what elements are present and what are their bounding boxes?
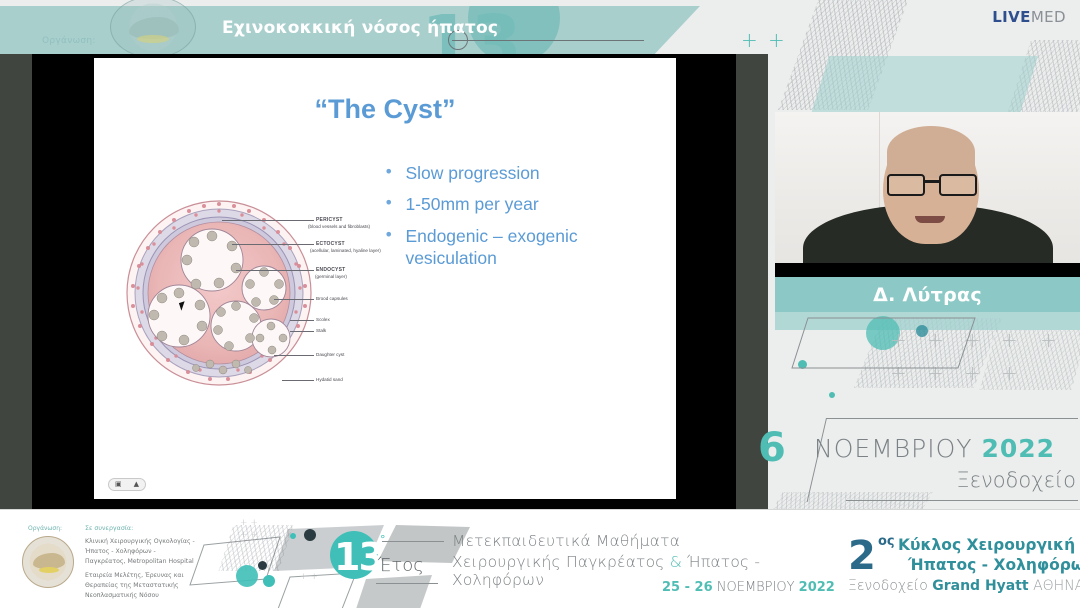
course-date-year: 2022 <box>799 580 835 595</box>
glasses-bridge <box>925 180 939 183</box>
pointer-up-icon[interactable]: ▲ <box>134 481 139 488</box>
bullet-text: Endogenic – exogenic vesiculation <box>405 225 654 270</box>
cycle-line-2: Ήπατος - Χοληφόρων <box>908 556 1080 574</box>
webcam-video[interactable] <box>775 112 1080 277</box>
cycle-venue-city: ΑΘΗΝΑ <box>1033 578 1080 594</box>
bullet-text: 1-50mm per year <box>405 193 538 215</box>
cycle-superscript: ος <box>878 534 895 549</box>
diagram-label-title: Brood capsules <box>316 296 348 303</box>
list-item: • Slow progression <box>384 162 654 184</box>
right-panel-year: 2022 <box>981 434 1055 463</box>
cycle-venue-line: Ξενοδοχείο Grand Hyatt ΑΘΗΝΑ <box>848 578 1080 594</box>
banner-society-logo-icon <box>22 536 74 588</box>
glasses-icon <box>887 174 977 196</box>
right-panel-month: ΝΟΕΜΒΡΙΟΥ <box>814 434 973 463</box>
course-date-days: 25 - 26 <box>662 580 713 595</box>
slide-bullet-list: • Slow progression • 1-50mm per year • E… <box>384 162 654 279</box>
banner-plus-3: + + <box>300 573 318 582</box>
leader-line <box>290 320 314 321</box>
date-frame-top-line <box>826 418 1078 419</box>
right-panel-date-block: ΝΟΕΜΒΡΙΟΥ 2022 Ξενοδοχείο <box>800 418 1080 504</box>
screen-root: + + + + + + + + + + + + + 13 Οργάνωση: Ε… <box>0 0 1080 608</box>
leader-line <box>274 355 314 356</box>
edition-number: 13 <box>334 535 383 579</box>
banner-course-date: 25 - 26 ΝΟΕΜΒΡΙΟΥ 2022 <box>662 580 835 595</box>
leader-line <box>222 220 314 221</box>
right-panel-day: 6 <box>758 425 786 471</box>
course-title-ampersand: & <box>670 553 682 571</box>
speaker-webcam-panel[interactable]: Δ. Λύτρας <box>775 112 1080 312</box>
banner-dot-5 <box>258 561 267 570</box>
list-item: • 1-50mm per year <box>384 193 654 215</box>
cyst-diagram-svg <box>124 198 314 388</box>
liver-shape-accent <box>137 35 169 43</box>
livemed-logo-live: LIVE <box>992 8 1031 26</box>
banner-cooperation-text-2: Εταιρεία Μελέτης, Έρευνας και Θεραπείας … <box>85 571 195 601</box>
edition-degree-symbol: ° <box>380 533 386 546</box>
banner-dot-4 <box>304 529 316 541</box>
glasses-left-lens <box>887 174 925 196</box>
decorative-plus-2: + <box>768 30 785 50</box>
leader-line <box>274 299 314 300</box>
speaker-name: Δ. Λύτρας <box>873 284 982 306</box>
cycle-venue-label: Ξενοδοχείο <box>848 578 928 594</box>
diagram-label-title: Hydatid sand <box>316 377 343 384</box>
leader-line <box>282 380 314 381</box>
diagram-label-sub: (acellular, laminated, hyaline layer) <box>310 248 381 255</box>
cycle-number: 2 <box>848 536 876 576</box>
cycle-line-1: Κύκλος Χειρουργική <box>898 536 1075 554</box>
banner-dot-2 <box>263 575 275 587</box>
decorative-polygon-group <box>790 316 1080 396</box>
diagram-label-sub: (blood vessels and fibroblasts) <box>308 224 370 231</box>
leader-line <box>290 331 314 332</box>
course-title-line-2a: Χειρουργικής Παγκρέατος <box>452 553 665 571</box>
speaker-name-band: Δ. Λύτρας <box>775 277 1080 312</box>
banner-cooperation-text-1: Κλινική Χειρουργικής Ογκολογίας - Ήπατος… <box>85 537 195 567</box>
webcam-bottom-band <box>775 263 1080 277</box>
slide-title: “The Cyst” <box>94 94 676 125</box>
hydatid-cyst-diagram: PERICYST (blood vessels and fibroblasts)… <box>124 198 424 448</box>
course-date-month: ΝΟΕΜΒΡΙΟΥ <box>717 580 795 595</box>
leader-line <box>236 270 314 271</box>
diagram-label-title: Daughter cyst <box>316 352 344 359</box>
speaker-scalp <box>887 126 975 178</box>
speaker-mouth <box>915 216 945 223</box>
banner-plus-1: + + <box>240 519 258 528</box>
bullet-marker-icon: • <box>384 162 393 184</box>
page-title: Εχινοκοκκική νόσος ήπατος <box>222 18 498 38</box>
banner-top-divider <box>0 509 1080 510</box>
banner-dot-1 <box>236 565 258 587</box>
banner-cycle-block: 2 ος Κύκλος Χειρουργική Ήπατος - Χοληφόρ… <box>848 534 1078 600</box>
livemed-logo: LIVEMED <box>992 8 1066 26</box>
diagram-label-sub: (germinal layer) <box>315 274 347 281</box>
presentation-slide[interactable]: “The Cyst” • Slow progression • 1-50mm p… <box>94 58 676 499</box>
course-title-line-1: Μετεκπαιδευτικά Μαθήματα <box>452 532 852 550</box>
glasses-right-lens <box>939 174 977 196</box>
slide-mini-toolbar[interactable]: ▣ ▲ <box>108 478 146 491</box>
right-panel-month-year: ΝΟΕΜΒΡΙΟΥ 2022 <box>814 434 1055 463</box>
list-item: • Endogenic – exogenic vesiculation <box>384 225 654 270</box>
right-panel-hotel-word: Ξενοδοχείο <box>956 468 1076 492</box>
date-frame-bottom-line <box>846 500 1078 501</box>
banner-plus-2: + + <box>240 531 258 540</box>
banner-cooperation-label: Σε συνεργασία: <box>85 525 133 532</box>
video-player[interactable]: “The Cyst” • Slow progression • 1-50mm p… <box>0 54 768 509</box>
leader-line <box>232 244 314 245</box>
diagram-label-title: Stalk <box>316 328 326 335</box>
livemed-logo-med: MED <box>1031 8 1066 26</box>
banner-dot-3 <box>290 533 296 539</box>
banner-edition-badge: 13 ° Έτος <box>330 527 450 597</box>
edition-line-bottom <box>376 583 438 584</box>
screen-icon[interactable]: ▣ <box>115 481 122 488</box>
edition-line-top <box>382 541 444 542</box>
cycle-venue-name: Grand Hyatt <box>932 578 1028 594</box>
header-divider-line <box>452 40 644 41</box>
edition-word: Έτος <box>378 555 424 576</box>
banner-organizer-label: Οργάνωση: <box>28 525 62 532</box>
decorative-plus-1: + <box>741 30 758 50</box>
bullet-text: Slow progression <box>405 162 539 184</box>
banner-liver-accent <box>39 567 59 573</box>
bottom-banner: + + + + + + Οργάνωση: Σε συνεργασία: Κλι… <box>0 509 1080 608</box>
header-organizer-label: Οργάνωση: <box>42 36 96 46</box>
diagram-label-title: Scolex <box>316 317 330 324</box>
